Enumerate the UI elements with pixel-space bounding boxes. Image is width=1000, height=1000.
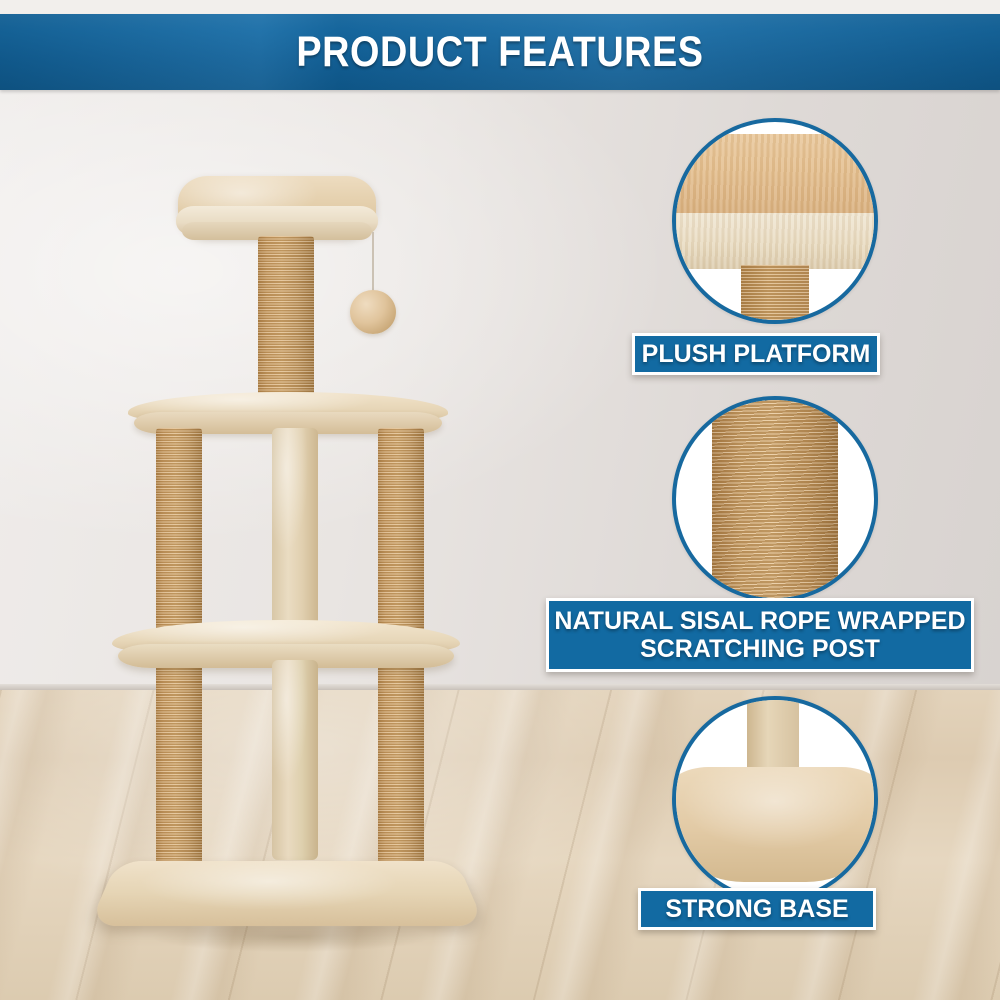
callout-label-sisal-post-line1: NATURAL SISAL ROPE WRAPPED: [554, 607, 965, 635]
toy-string: [372, 232, 374, 298]
base-slab: [104, 852, 470, 948]
zoom-fur-texture: [672, 134, 878, 269]
center-plush-post-upper: [272, 428, 318, 628]
zoom-sisal-rope-texture: [712, 396, 839, 602]
callout-circle-sisal-post: [672, 396, 878, 602]
cat-tree-product: [0, 0, 560, 1000]
center-plush-post-lower: [272, 660, 318, 860]
callout-label-sisal-post[interactable]: NATURAL SISAL ROPE WRAPPED SCRATCHING PO…: [546, 598, 974, 672]
callout-label-plush-platform[interactable]: PLUSH PLATFORM: [632, 333, 880, 375]
infographic-canvas: PRODUCT FEATURES PLUSH PLAT: [0, 0, 1000, 1000]
callout-label-strong-base[interactable]: STRONG BASE: [638, 888, 876, 930]
zoom-base-center-post: [747, 696, 798, 775]
callout-circle-strong-base: [672, 696, 878, 902]
callout-circle-plush-platform: [672, 118, 878, 324]
zoom-base-slab: [672, 767, 878, 882]
callout-label-sisal-post-line2: SCRATCHING POST: [640, 635, 880, 663]
dangling-pompom-toy: [350, 290, 396, 334]
base-slab-top: [89, 861, 486, 926]
zoom-sisal-post-stub: [741, 265, 808, 324]
upper-sisal-post: [258, 236, 314, 408]
